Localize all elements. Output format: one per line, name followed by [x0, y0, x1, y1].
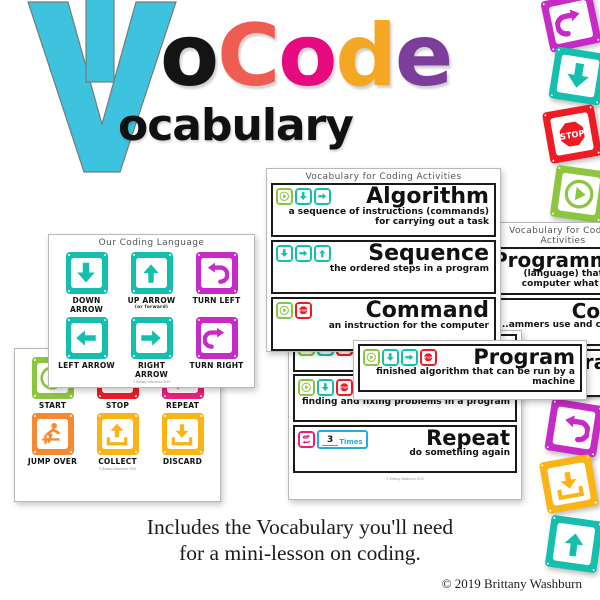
- vocab-card-repeat: 3 Times Repeat do something again: [293, 425, 517, 473]
- command-symbol-4-label: COLLECT: [98, 457, 137, 466]
- coding-symbol-3: LEFT ARROW: [57, 317, 116, 379]
- turn-left-icon-tile: [196, 252, 238, 294]
- vocab-card-sequence-icons: [276, 245, 331, 262]
- vocab-card-repeat-def: do something again: [295, 449, 515, 461]
- arrow-right-icon-tile: [295, 245, 312, 262]
- rail-turn-right-icon-0: [540, 0, 600, 53]
- vocab-card-algorithm: Algorithm a sequence of instructions (co…: [271, 183, 496, 237]
- wordmark-char-1: C: [217, 6, 278, 106]
- coding-symbol-4: RIGHT ARROW: [122, 317, 181, 379]
- wordmark-char-3: d: [335, 6, 395, 106]
- vocab-sheet-back-title: Vocabulary for Coding Activities: [488, 223, 600, 246]
- rail-stop-sign-icon-2: STOP: [542, 104, 600, 164]
- sheet-credit: © Brittany Washburn 2019: [49, 379, 254, 386]
- command-symbol-1-label: STOP: [106, 401, 129, 410]
- play-icon-tile: [276, 188, 293, 205]
- vocab-card-command-icons: STOP: [276, 302, 312, 319]
- stop-sign-icon-tile: STOP: [336, 379, 353, 396]
- vocab-card-repeat-icons: 3 Times: [298, 430, 368, 449]
- footer-text: Includes the Vocabulary you'll need for …: [0, 514, 600, 566]
- repeat-icon-tile: [298, 431, 315, 448]
- rail-turn-left-icon-7: [544, 398, 600, 457]
- arrow-left-icon-tile: [66, 317, 108, 359]
- wordmark-char-0: o: [160, 6, 217, 106]
- stop-sign-icon-tile: STOP: [420, 349, 437, 366]
- arrow-down-icon-tile: [382, 349, 399, 366]
- svg-text:STOP: STOP: [299, 309, 307, 313]
- play-icon-tile: [298, 379, 315, 396]
- vocab-card-program-def: finished algorithm that can be run by a …: [360, 368, 580, 389]
- coding-symbol-1: UP ARROW(or forward): [122, 252, 181, 314]
- coding-symbol-0-label: DOWN ARROW: [57, 296, 116, 314]
- rail-discard-icon-8: [539, 454, 599, 514]
- coding-symbol-0: DOWN ARROW: [57, 252, 116, 314]
- command-symbol-3: JUMP OVER: [23, 413, 82, 466]
- stop-sign-icon-tile: STOP: [295, 302, 312, 319]
- discard-icon-tile: [162, 413, 204, 455]
- command-symbol-4: COLLECT: [88, 413, 147, 466]
- arrow-up-icon-tile: [131, 252, 173, 294]
- svg-text:STOP: STOP: [424, 356, 432, 360]
- play-icon-tile: [276, 302, 293, 319]
- coding-language-title: Our Coding Language: [49, 235, 254, 248]
- coding-language-card: Our Coding Language DOWN ARROW UP ARROW(…: [48, 234, 255, 388]
- turn-right-icon-tile: [196, 317, 238, 359]
- hurdle-icon-tile: [32, 413, 74, 455]
- vocab-card-debugging-icons: STOP: [298, 379, 353, 396]
- coding-symbol-1-sub: (or forward): [128, 305, 176, 310]
- vocab-sheet-front: Vocabulary for Coding Activities Algorit…: [266, 168, 501, 352]
- coding-symbol-1-label: UP ARROW(or forward): [128, 296, 176, 310]
- arrow-down-icon-tile: [276, 245, 293, 262]
- svg-text:STOP: STOP: [340, 386, 348, 390]
- vocab-card-algorithm-icons: [276, 188, 331, 205]
- wordmark-char-4: e: [395, 6, 451, 106]
- vocab-card-program: STOP Program finished algorithm that can…: [358, 344, 582, 392]
- coding-symbol-2: TURN LEFT: [187, 252, 246, 314]
- repeat-times-box: 3 Times: [317, 430, 368, 449]
- coding-symbol-3-label: LEFT ARROW: [58, 361, 115, 370]
- arrow-right-icon-tile: [314, 188, 331, 205]
- vocab-card-sequence-def: the ordered steps in a program: [273, 265, 494, 277]
- repeat-times-value: 3: [322, 436, 338, 446]
- play-icon-tile: [363, 349, 380, 366]
- command-symbol-3-label: JUMP OVER: [28, 457, 77, 466]
- program-card-sheet: STOP Program finished algorithm that can…: [353, 340, 587, 400]
- vocab-card-program-icons: STOP: [363, 349, 437, 366]
- vocab-sheet-front-title: Vocabulary for Coding Activities: [267, 169, 500, 182]
- footer-line-1: Includes the Vocabulary you'll need: [0, 514, 600, 540]
- command-symbol-5-label: DISCARD: [163, 457, 202, 466]
- sheet-credit: © Brittany Washburn 2019: [15, 466, 220, 473]
- arrow-right-icon-tile: [131, 317, 173, 359]
- rail-arrow-down-icon-1: [548, 46, 600, 105]
- coding-symbol-5: TURN RIGHT: [187, 317, 246, 379]
- arrow-up-icon-tile: [314, 245, 331, 262]
- arrow-down-icon-tile: [66, 252, 108, 294]
- rail-play-icon-3: [550, 165, 600, 224]
- footer-line-2: for a mini-lesson on coding.: [0, 540, 600, 566]
- command-symbol-0-label: START: [39, 401, 66, 410]
- command-symbol-2-label: REPEAT: [166, 401, 199, 410]
- vocab-card-sequence: Sequence the ordered steps in a program: [271, 240, 496, 294]
- vocab-card-command-def: an instruction for the computer: [273, 322, 494, 334]
- copyright-text: © 2019 Brittany Washburn: [442, 576, 582, 592]
- vocab-card-algorithm-def: a sequence of instructions (commands) fo…: [273, 208, 494, 229]
- wordmark-char-2: o: [278, 6, 335, 106]
- vocab-card-programmer-term: Programmer: [493, 249, 600, 270]
- arrow-down-icon-tile: [317, 379, 334, 396]
- wordmark-vocode: oCode: [160, 6, 540, 106]
- arrow-down-icon-tile: [295, 188, 312, 205]
- sheet-credit: © Brittany Washburn 2019: [289, 476, 521, 483]
- collect-icon-tile: [97, 413, 139, 455]
- coding-symbol-5-label: TURN RIGHT: [190, 361, 244, 370]
- poster-canvas: STOP oCode ocabulary Vocabulary for Codi…: [0, 0, 600, 600]
- command-symbol-5: DISCARD: [153, 413, 212, 466]
- coding-symbol-2-label: TURN LEFT: [193, 296, 241, 305]
- wordmark-vocabulary: ocabulary: [118, 100, 353, 151]
- repeat-times-label: Times: [339, 438, 362, 446]
- arrow-right-icon-tile: [401, 349, 418, 366]
- vocab-card-programmer: Programmer (language) that tells compute…: [491, 247, 600, 295]
- vocab-card-programmer-def: (language) that tells computer what to d…: [493, 270, 600, 291]
- coding-symbol-4-label: RIGHT ARROW: [122, 361, 181, 379]
- vocab-card-code-term: Code: [493, 300, 600, 321]
